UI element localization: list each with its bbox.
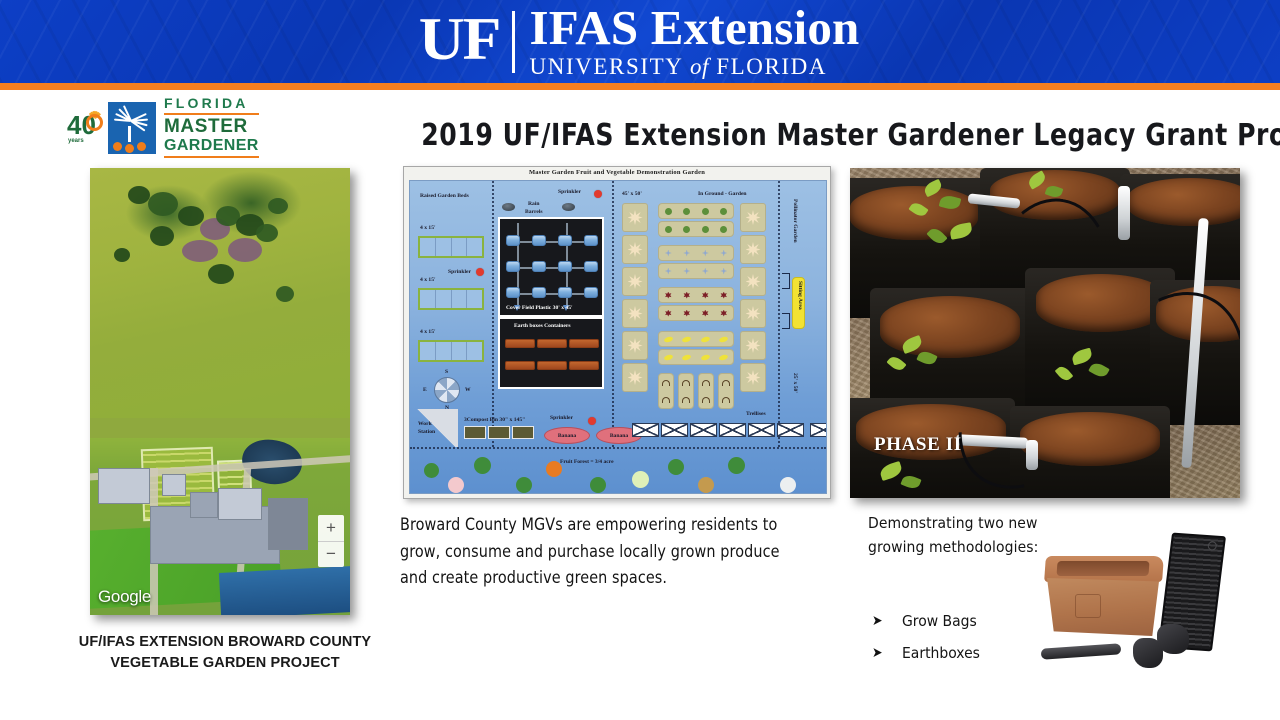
fruit-tree bbox=[668, 459, 684, 475]
compass-label-w: W bbox=[465, 387, 471, 393]
label-sprinkler-3: Sprinkler bbox=[550, 415, 573, 421]
demo-description-text: Demonstrating two new growing methodolog… bbox=[868, 512, 1048, 559]
label-sprinkler-1: Sprinkler bbox=[448, 269, 471, 275]
logo-text-gardener: GARDENER bbox=[164, 137, 259, 155]
label-earth-boxes: Earth boxes Containers bbox=[514, 323, 571, 329]
diagram-canvas: Raised Garden Beds 4 x 15' 4 x 15' Sprin… bbox=[409, 180, 827, 494]
fruit-tree bbox=[516, 477, 532, 493]
building bbox=[190, 492, 218, 518]
planting-container bbox=[584, 261, 598, 272]
logo-rule-top bbox=[164, 113, 259, 115]
flower-icon-3 bbox=[137, 142, 146, 151]
header-subtitle-university-of-florida: UNIVERSITY of FLORIDA bbox=[529, 54, 827, 80]
flower-icon-1 bbox=[113, 142, 122, 151]
label-rain-barrels-2: Barrels bbox=[525, 209, 543, 215]
label-pollinator-garden: Pollinator Garden bbox=[792, 199, 798, 243]
bracket-bottom bbox=[782, 313, 790, 329]
building bbox=[162, 474, 186, 496]
water-feature bbox=[219, 565, 350, 615]
crop-row-squash bbox=[658, 349, 734, 365]
crop-row-star bbox=[658, 245, 734, 261]
planting-container bbox=[532, 287, 546, 298]
planting-container bbox=[532, 261, 546, 272]
sun-plot bbox=[740, 331, 766, 360]
earthbox-embossed-logo bbox=[1075, 594, 1101, 618]
sprinkler-icon-2 bbox=[594, 190, 602, 198]
sun-plot bbox=[622, 299, 648, 328]
sun-plot bbox=[622, 267, 648, 296]
crop-bed-arc bbox=[718, 373, 734, 409]
label-bed-size-3: 4 x 15' bbox=[420, 329, 436, 335]
label-rain-barrels-1: Rain bbox=[528, 201, 540, 207]
diagram-divider bbox=[778, 181, 780, 447]
sun-plot bbox=[740, 203, 766, 232]
header-subtitle-pre: UNIVERSITY bbox=[529, 54, 690, 79]
header-subtitle-of: of bbox=[690, 54, 709, 79]
label-fruit-forest: Fruit Forest = 3/4 acre bbox=[560, 459, 614, 465]
diagram-divider bbox=[612, 181, 614, 447]
orange-accent-bar bbox=[0, 83, 1280, 90]
label-cover-field-plastic: Cover Field Plastic 30' x 45' bbox=[506, 305, 573, 311]
earthbox-unit bbox=[505, 339, 535, 348]
earthbox-unit bbox=[537, 361, 567, 370]
earthbox-unit bbox=[505, 361, 535, 370]
tree-cluster bbox=[208, 264, 234, 284]
bracket-top bbox=[782, 273, 790, 289]
crop-bed-arc bbox=[698, 373, 714, 409]
label-sprinkler-2: Sprinkler bbox=[558, 189, 581, 195]
label-sitting-area: Sitting Area bbox=[797, 281, 803, 310]
crop-row-leafy bbox=[658, 221, 734, 237]
planting-container bbox=[506, 261, 520, 272]
sun-plot bbox=[622, 363, 648, 392]
sun-plot bbox=[740, 235, 766, 264]
earthbox-container bbox=[1045, 556, 1163, 636]
building bbox=[218, 488, 262, 520]
crop-row-star bbox=[658, 263, 734, 279]
compass-label-s: S bbox=[445, 369, 448, 375]
earthbox-unit bbox=[537, 339, 567, 348]
crop-row-red bbox=[658, 287, 734, 303]
trellis bbox=[661, 423, 688, 437]
arrow-bullet-icon: ➤ bbox=[872, 645, 902, 661]
planting-container bbox=[558, 261, 572, 272]
tree-cluster bbox=[228, 238, 262, 262]
palm-trunk-icon bbox=[128, 126, 131, 142]
uf-logo-mark: UF bbox=[418, 9, 499, 69]
raised-bed-3 bbox=[418, 340, 484, 362]
anniversary-40-years-icon: 40 years bbox=[66, 105, 108, 151]
logo-rule-bottom bbox=[164, 156, 259, 158]
pvc-pipe bbox=[1118, 186, 1130, 240]
tree-cluster bbox=[128, 186, 150, 204]
label-bed-size-2: 4 x 15' bbox=[420, 277, 436, 283]
phase-label: PHASE II bbox=[874, 434, 962, 456]
flower-icon-2 bbox=[125, 144, 134, 153]
sun-plot bbox=[622, 331, 648, 360]
tree-cluster bbox=[182, 240, 218, 262]
label-banana-2: Banana bbox=[610, 433, 628, 439]
label-work-station-1: Work bbox=[418, 421, 432, 427]
diagram-title: Master Garden Fruit and Vegetable Demons… bbox=[404, 169, 830, 176]
caption-line-1: UF/IFAS EXTENSION BROWARD COUNTY bbox=[40, 632, 410, 653]
grow-bag-soil bbox=[1128, 178, 1240, 226]
fruit-tree bbox=[780, 477, 796, 493]
crop-row-red bbox=[658, 305, 734, 321]
trellis bbox=[810, 423, 827, 437]
work-station-shape bbox=[414, 409, 458, 447]
garden-layout-diagram: Master Garden Fruit and Vegetable Demons… bbox=[403, 166, 831, 499]
crop-row-leafy bbox=[658, 203, 734, 219]
trellis bbox=[719, 423, 746, 437]
sprinkler-icon-3 bbox=[588, 417, 596, 425]
aerial-upper-field bbox=[90, 168, 350, 418]
fruit-tree bbox=[424, 463, 439, 478]
uf-ifas-header-banner: UF IFAS Extension UNIVERSITY of FLORIDA bbox=[0, 0, 1280, 83]
trellis bbox=[777, 423, 804, 437]
fruit-tree bbox=[632, 471, 649, 488]
trellis bbox=[690, 423, 717, 437]
tree-cluster bbox=[114, 248, 130, 262]
bullet-label-grow-bags: Grow Bags bbox=[902, 612, 977, 630]
tree-cluster bbox=[256, 224, 278, 242]
google-watermark: Google bbox=[98, 587, 151, 607]
sun-plot bbox=[740, 363, 766, 392]
fruit-tree bbox=[474, 457, 491, 474]
rain-barrel-1 bbox=[502, 203, 515, 211]
compost-bin-1 bbox=[464, 426, 486, 439]
trellis bbox=[632, 423, 659, 437]
fruit-tree bbox=[728, 457, 745, 474]
label-trellises: Trellises bbox=[746, 411, 766, 417]
header-divider bbox=[512, 11, 515, 73]
label-compost-bin: 3Compost Bin 30" x 145" bbox=[464, 417, 525, 423]
tree-cluster bbox=[268, 198, 288, 214]
fruit-tree bbox=[546, 461, 562, 477]
diagram-divider bbox=[492, 181, 494, 447]
crop-bed-arc bbox=[658, 373, 674, 409]
bullet-label-earthboxes: Earthboxes bbox=[902, 644, 980, 662]
header-title-ifas-extension: IFAS Extension bbox=[529, 3, 859, 53]
compass-rose-icon bbox=[434, 377, 460, 403]
label-side-size: 25' x 50' bbox=[792, 373, 798, 393]
fruit-tree bbox=[698, 477, 714, 493]
earthbox-mulch-cover bbox=[1133, 638, 1163, 668]
aerial-photo-caption: UF/IFAS EXTENSION BROWARD COUNTY VEGETAB… bbox=[40, 632, 410, 674]
aerial-map-photo: + − Google bbox=[90, 168, 350, 615]
palm-fronds-icon bbox=[114, 106, 150, 136]
planting-container bbox=[558, 235, 572, 246]
sprinkler-icon-1 bbox=[476, 268, 484, 276]
label-bed-size-1: 4 x 15' bbox=[420, 225, 436, 231]
label-banana-1: Banana bbox=[558, 433, 576, 439]
earthbox-interior bbox=[1056, 561, 1149, 576]
trellis bbox=[748, 423, 775, 437]
sun-plot bbox=[740, 299, 766, 328]
fruit-tree bbox=[590, 477, 606, 493]
planting-container bbox=[584, 235, 598, 246]
arrow-bullet-icon: ➤ bbox=[872, 613, 902, 629]
sun-plot bbox=[740, 267, 766, 296]
raised-bed-2 bbox=[418, 288, 484, 310]
caption-line-2: VEGETABLE GARDEN PROJECT bbox=[40, 653, 410, 674]
logo-text-master: MASTER bbox=[164, 117, 259, 137]
compost-bin-2 bbox=[488, 426, 510, 439]
tree-cluster bbox=[148, 192, 178, 216]
earthbox-fill-tube bbox=[1041, 643, 1122, 660]
label-plot-size: 45' x 50' bbox=[622, 191, 642, 197]
label-work-station-2: Station bbox=[418, 429, 435, 435]
palm-gardener-emblem-icon bbox=[108, 102, 156, 154]
planting-container bbox=[558, 287, 572, 298]
earthbox-unit bbox=[569, 339, 599, 348]
tree-cluster bbox=[150, 226, 174, 246]
crop-bed-arc bbox=[678, 373, 694, 409]
anniversary-ring-icon bbox=[86, 114, 103, 131]
anniversary-years-label: years bbox=[68, 138, 84, 144]
diagram-divider bbox=[410, 447, 826, 449]
map-zoom-control[interactable]: + − bbox=[318, 515, 344, 567]
cover-field-plastic-panel bbox=[498, 217, 604, 317]
rain-barrel-2 bbox=[562, 203, 575, 211]
building bbox=[268, 498, 308, 550]
building bbox=[98, 468, 150, 504]
label-raised-garden-beds: Raised Garden Beds bbox=[420, 193, 469, 199]
banana-plot-1: Banana bbox=[544, 427, 590, 444]
map-zoom-in-button[interactable]: + bbox=[318, 515, 344, 542]
fruit-tree bbox=[448, 477, 464, 493]
planting-container bbox=[532, 235, 546, 246]
compass-label-e: E bbox=[423, 387, 427, 393]
logo-text-florida: FLORIDA bbox=[164, 96, 259, 111]
map-zoom-out-button[interactable]: − bbox=[318, 542, 344, 568]
raised-bed-1 bbox=[418, 236, 484, 258]
planting-container bbox=[584, 287, 598, 298]
earthbox-unit bbox=[569, 361, 599, 370]
compost-bin-3 bbox=[512, 426, 534, 439]
earthbox-body bbox=[1047, 578, 1159, 636]
tree-cluster bbox=[276, 286, 294, 302]
planting-container bbox=[506, 287, 520, 298]
label-in-ground-garden: In Ground - Garden bbox=[698, 191, 747, 197]
crop-row-squash bbox=[658, 331, 734, 347]
florida-master-gardener-logo: 40 years FLORIDA MASTER GARDENER bbox=[66, 99, 242, 157]
planting-container bbox=[506, 235, 520, 246]
earthbox-product-photo bbox=[1035, 528, 1255, 683]
sun-plot bbox=[622, 203, 648, 232]
sun-plot bbox=[622, 235, 648, 264]
tree-cluster bbox=[178, 206, 204, 226]
body-description-text: Broward County MGVs are empowering resid… bbox=[400, 512, 800, 592]
header-subtitle-post: FLORIDA bbox=[709, 54, 827, 79]
page-title: 2019 UF/IFAS Extension Master Gardener L… bbox=[421, 118, 1198, 153]
